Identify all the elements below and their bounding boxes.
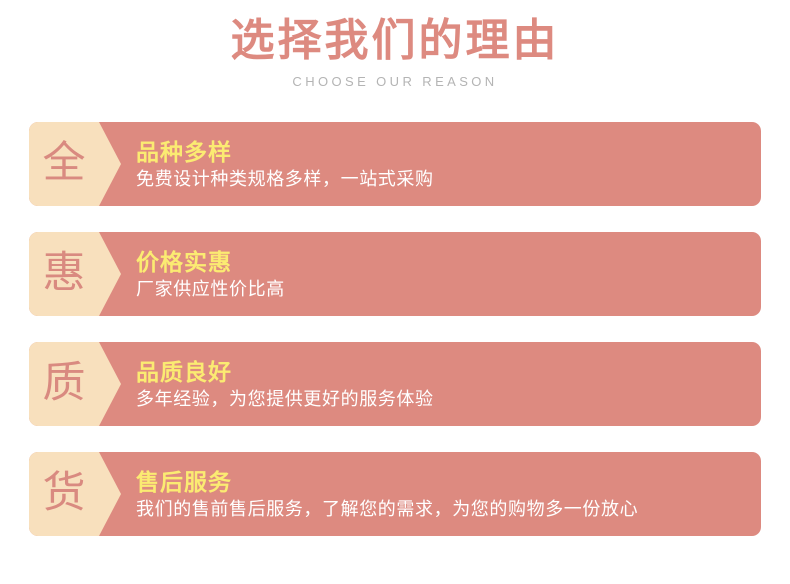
reason-title: 售后服务 — [136, 469, 749, 496]
reason-description: 多年经验，为您提供更好的服务体验 — [136, 389, 749, 411]
reason-list: 全 品种多样 免费设计种类规格多样，一站式采购 惠 价格实惠 厂家供应性价比高 … — [29, 122, 761, 536]
banner-header: 选择我们的理由 CHOOSE OUR REASON — [0, 0, 790, 88]
reason-badge-4: 货 — [29, 452, 121, 536]
reason-badge-1: 全 — [29, 122, 121, 206]
badge-character: 货 — [29, 472, 99, 517]
badge-character: 全 — [29, 142, 99, 187]
promo-banner: 选择我们的理由 CHOOSE OUR REASON 全 品种多样 免费设计种类规… — [0, 0, 790, 584]
reason-title: 品质良好 — [136, 359, 749, 386]
reason-text-3: 品质良好 多年经验，为您提供更好的服务体验 — [136, 342, 749, 426]
page-title: 选择我们的理由 — [0, 14, 790, 68]
page-subtitle: CHOOSE OUR REASON — [0, 75, 790, 88]
reason-badge-3: 质 — [29, 342, 121, 426]
reason-row-4: 货 售后服务 我们的售前售后服务，了解您的需求，为您的购物多一份放心 — [29, 452, 761, 536]
reason-text-1: 品种多样 免费设计种类规格多样，一站式采购 — [136, 122, 749, 206]
reason-title: 价格实惠 — [136, 249, 749, 276]
reason-row-2: 惠 价格实惠 厂家供应性价比高 — [29, 232, 761, 316]
reason-text-2: 价格实惠 厂家供应性价比高 — [136, 232, 749, 316]
badge-character: 惠 — [29, 252, 99, 297]
reason-row-1: 全 品种多样 免费设计种类规格多样，一站式采购 — [29, 122, 761, 206]
reason-description: 我们的售前售后服务，了解您的需求，为您的购物多一份放心 — [136, 499, 749, 521]
reason-row-3: 质 品质良好 多年经验，为您提供更好的服务体验 — [29, 342, 761, 426]
reason-description: 免费设计种类规格多样，一站式采购 — [136, 169, 749, 191]
reason-badge-2: 惠 — [29, 232, 121, 316]
badge-character: 质 — [29, 362, 99, 407]
reason-text-4: 售后服务 我们的售前售后服务，了解您的需求，为您的购物多一份放心 — [136, 452, 749, 536]
reason-description: 厂家供应性价比高 — [136, 279, 749, 301]
reason-title: 品种多样 — [136, 139, 749, 166]
